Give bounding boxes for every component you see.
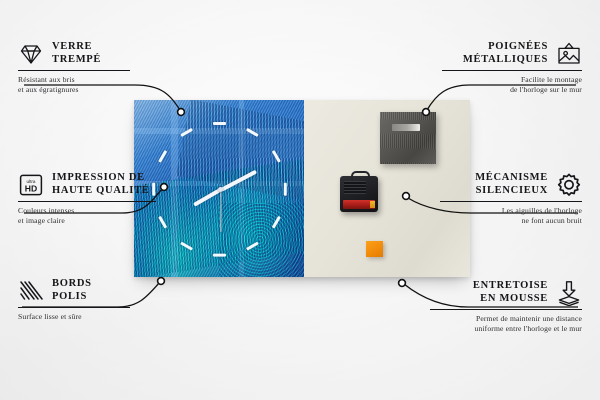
feature-header: POIGNÉES MÉTALLIQUES bbox=[392, 41, 582, 67]
foam-spacer bbox=[366, 241, 383, 257]
decor-wave-pattern bbox=[219, 203, 306, 277]
feature-rule bbox=[430, 309, 582, 310]
feature-subtitle: Résistant aux bris et aux égratignures bbox=[18, 75, 208, 96]
feature-rule bbox=[442, 70, 582, 71]
clock-center-cap bbox=[218, 187, 223, 192]
feature-poignees-metalliques: POIGNÉES MÉTALLIQUES Facilite le montage… bbox=[392, 41, 582, 96]
feature-header: ENTRETOISE EN MOUSSE bbox=[382, 280, 582, 306]
polished-edge-lines-icon bbox=[18, 278, 44, 304]
feature-title: MÉCANISME SILENCIEUX bbox=[475, 172, 548, 198]
feature-rule bbox=[440, 201, 582, 202]
feature-header: VERRE TREMPÉ bbox=[18, 41, 208, 67]
feature-header: BORDS POLIS bbox=[18, 278, 208, 304]
clock-tick bbox=[213, 254, 226, 257]
clock-second-hand bbox=[220, 190, 221, 232]
feature-title: ENTRETOISE EN MOUSSE bbox=[473, 280, 548, 306]
mechanism-vents bbox=[344, 181, 366, 194]
feature-title: BORDS POLIS bbox=[52, 278, 92, 304]
arrow-down-onto-pad-icon bbox=[556, 280, 582, 306]
metal-hanging-plate bbox=[380, 112, 436, 164]
feature-title: POIGNÉES MÉTALLIQUES bbox=[463, 41, 548, 67]
feature-subtitle: Surface lisse et sûre bbox=[18, 312, 208, 322]
product-infographic: VERRE TREMPÉ Résistant aux bris et aux é… bbox=[0, 0, 600, 400]
clock-tick bbox=[284, 183, 287, 196]
feature-mecanisme-silencieux: MÉCANISME SILENCIEUX Les aiguilles de l'… bbox=[392, 172, 582, 227]
feature-rule bbox=[18, 201, 156, 202]
clock-tick bbox=[272, 216, 281, 229]
ultra-hd-icon-main-text: HD bbox=[25, 183, 37, 193]
gear-icon bbox=[556, 172, 582, 198]
feature-subtitle: Permet de maintenir une distance uniform… bbox=[382, 314, 582, 335]
clock-tick bbox=[246, 242, 259, 251]
mechanism-hanger-loop bbox=[351, 171, 370, 180]
clock-tick bbox=[180, 242, 193, 251]
clock-mechanism bbox=[340, 176, 378, 212]
feature-subtitle: Couleurs intenses et image claire bbox=[18, 206, 208, 227]
feature-title: VERRE TREMPÉ bbox=[52, 41, 101, 67]
feature-verre-trempe: VERRE TREMPÉ Résistant aux bris et aux é… bbox=[18, 41, 208, 96]
decor-grid-line bbox=[134, 128, 304, 134]
framed-picture-hanging-icon bbox=[556, 41, 582, 67]
decor-grid-line bbox=[239, 100, 244, 277]
feature-subtitle: Facilite le montage de l'horloge sur le … bbox=[392, 75, 582, 96]
battery bbox=[343, 200, 375, 209]
feature-header: ultra HD IMPRESSION DE HAUTE QUALITÉ bbox=[18, 172, 208, 198]
feature-bords-polis: BORDS POLIS Surface lisse et sûre bbox=[18, 278, 208, 322]
feature-title: IMPRESSION DE HAUTE QUALITÉ bbox=[52, 172, 150, 198]
feature-header: MÉCANISME SILENCIEUX bbox=[392, 172, 582, 198]
diamond-icon bbox=[18, 41, 44, 67]
clock-tick bbox=[158, 150, 167, 163]
clock-tick bbox=[213, 122, 226, 125]
plate-slot bbox=[392, 124, 420, 131]
feature-rule bbox=[18, 307, 130, 308]
ultra-hd-icon: ultra HD bbox=[18, 172, 44, 198]
clock-tick bbox=[272, 150, 281, 163]
feature-entretoise-en-mousse: ENTRETOISE EN MOUSSE Permet de maintenir… bbox=[382, 280, 582, 335]
feature-impression-haute-qualite: ultra HD IMPRESSION DE HAUTE QUALITÉ Cou… bbox=[18, 172, 208, 227]
feature-subtitle: Les aiguilles de l'horloge ne font aucun… bbox=[392, 206, 582, 227]
feature-rule bbox=[18, 70, 130, 71]
